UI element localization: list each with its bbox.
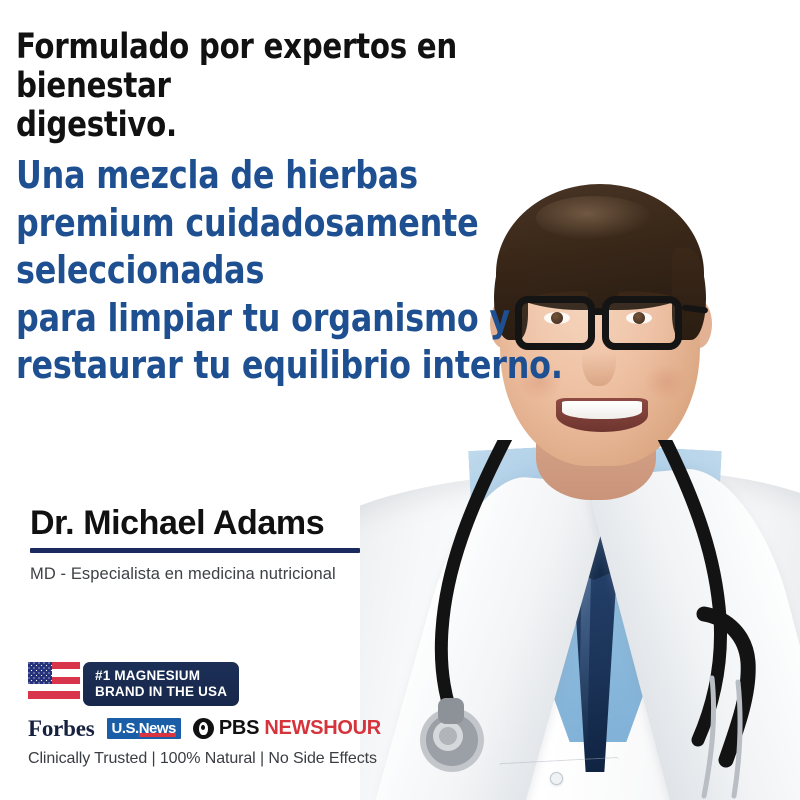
pbs-text: PBS (219, 717, 259, 739)
subheadline-line-5: restaurar tu equilibrio interno. (16, 342, 537, 390)
subheadline-line-1: Una mezcla de hierbas (16, 152, 537, 200)
headline: Formulado por expertos en bienestar dige… (16, 28, 574, 146)
brand-badge-pill: #1 MAGNESIUM BRAND IN THE USA (83, 662, 239, 706)
stethoscope-icon (360, 440, 800, 800)
usnews-us-text: U.S. (112, 721, 139, 736)
media-logos: Forbes U.S. News PBS NEWSHOUR (28, 715, 381, 741)
flag-canton (28, 662, 52, 684)
subheadline: Una mezcla de hierbas premium cuidadosam… (16, 152, 537, 390)
usnews-news-text: News (139, 721, 176, 736)
newshour-text: NEWSHOUR (264, 717, 381, 739)
subheadline-line-3: seleccionadas (16, 247, 537, 295)
forbes-logo: Forbes (28, 717, 95, 740)
doctor-name: Dr. Michael Adams (30, 505, 360, 542)
trust-tagline: Clinically Trusted | 100% Natural | No S… (28, 750, 381, 768)
doctor-name-underline (30, 548, 360, 553)
hair-highlight (536, 196, 652, 240)
headline-line-1: Formulado por expertos en bienestar (16, 28, 574, 106)
brand-badge-line-2: BRAND IN THE USA (95, 684, 227, 700)
eyeglasses-bridge (593, 308, 609, 315)
pbs-newshour-text: PBS NEWSHOUR (219, 718, 381, 738)
pbs-head-icon (193, 718, 214, 739)
subheadline-line-2: premium cuidadosamente (16, 200, 537, 248)
doctor-attribution: Dr. Michael Adams MD - Especialista en m… (30, 505, 360, 584)
brand-badge-line-1: #1 MAGNESIUM (95, 668, 227, 684)
subheadline-line-4: para limpiar tu organismo y (16, 295, 537, 343)
pbs-newshour-logo: PBS NEWSHOUR (193, 718, 381, 739)
brand-badge: #1 MAGNESIUM BRAND IN THE USA (28, 662, 381, 706)
teeth (562, 401, 642, 419)
doctor-credentials: MD - Especialista en medicina nutriciona… (30, 565, 360, 584)
eyeglasses-lens-right (602, 296, 682, 350)
usa-flag-icon (28, 662, 80, 706)
advertisement-creative: Formulado por expertos en bienestar dige… (0, 0, 800, 800)
trust-badges: #1 MAGNESIUM BRAND IN THE USA Forbes U.S… (28, 662, 381, 768)
usnews-logo: U.S. News (107, 718, 181, 739)
headline-line-2: digestivo. (16, 106, 574, 145)
cheek-right (644, 364, 688, 400)
